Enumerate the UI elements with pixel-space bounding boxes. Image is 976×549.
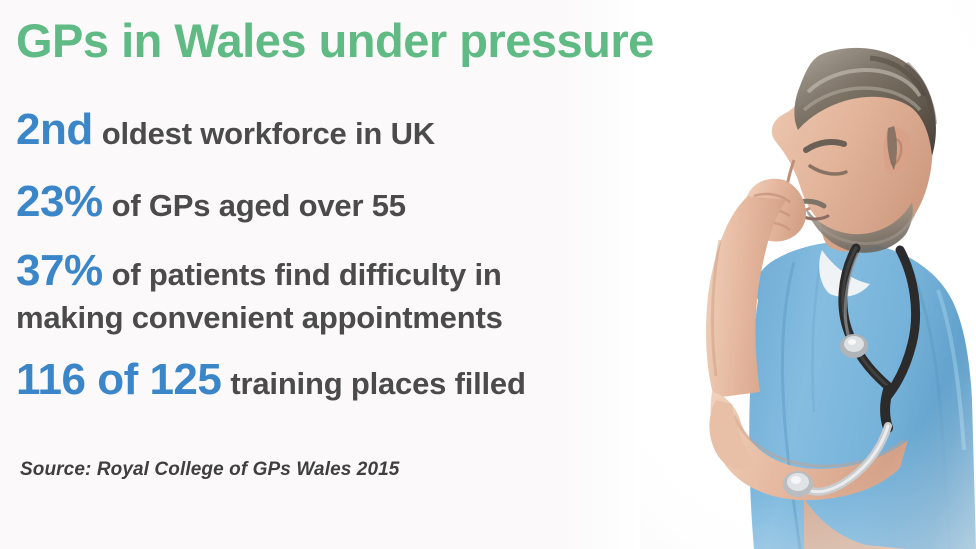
stat-value-oldest-workforce: 2nd — [16, 105, 93, 154]
stat-description-oldest-workforce: oldest workforce in UK — [102, 116, 435, 151]
stat-row-oldest-workforce: 2ndoldest workforce in UK — [16, 108, 435, 152]
stat-row-gps-over-55: 23%of GPs aged over 55 — [16, 180, 406, 224]
stat-value-appointment-difficulty: 37% — [16, 246, 103, 295]
stat-value-training-places: 116 of 125 — [16, 355, 221, 404]
stat-row-appointment-difficulty: 37%of patients find difficulty in — [16, 249, 502, 293]
stat-value-gps-over-55: 23% — [16, 177, 103, 226]
stat-description-appointment-difficulty-line2: making convenient appointments — [16, 302, 503, 333]
source-attribution: Source: Royal College of GPs Wales 2015 — [20, 460, 399, 479]
stat-description-appointment-difficulty: of patients find difficulty in — [112, 257, 502, 292]
page-title: GPs in Wales under pressure — [16, 17, 654, 64]
stat-description-training-places: training places filled — [230, 366, 525, 401]
stat-row-training-places: 116 of 125training places filled — [16, 358, 526, 402]
gps-wales-infographic: GPs in Wales under pressure 2ndoldest wo… — [0, 0, 976, 549]
stat-description-gps-over-55: of GPs aged over 55 — [112, 188, 406, 223]
text-layer: GPs in Wales under pressure 2ndoldest wo… — [0, 0, 976, 549]
